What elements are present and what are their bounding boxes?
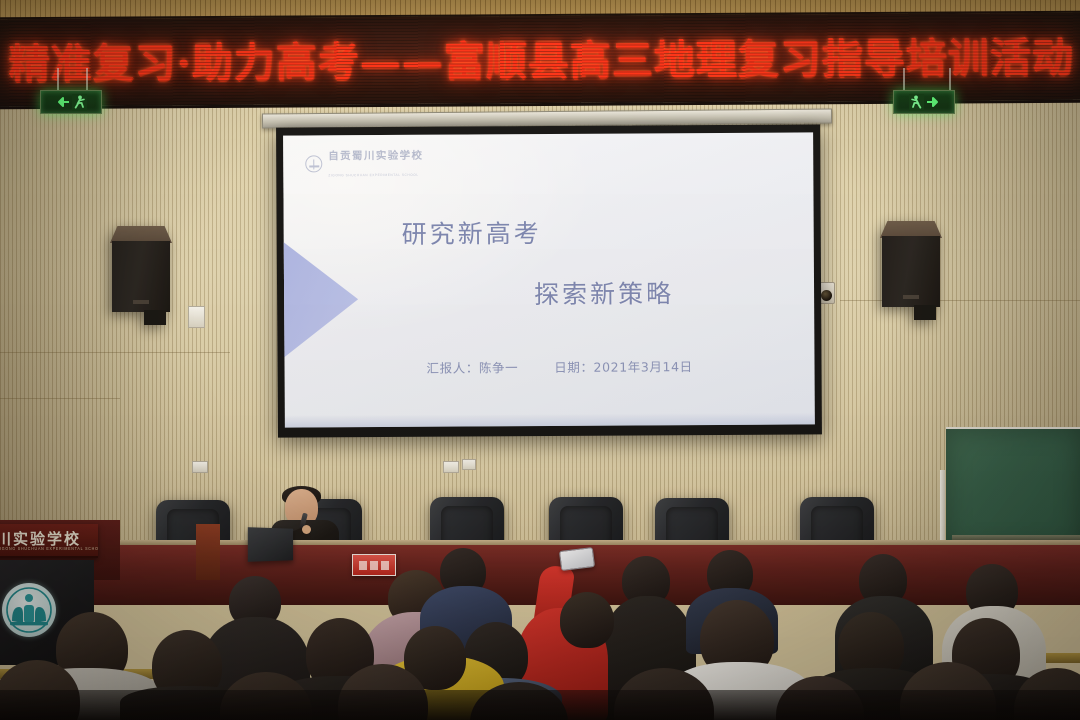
audience-row-front <box>0 0 1080 720</box>
lecture-hall-photo: 精准复习·助力高考——富顺县高三地理复习指导培训活动 <box>0 0 1080 720</box>
audience-foreground-shadow <box>0 690 1080 720</box>
